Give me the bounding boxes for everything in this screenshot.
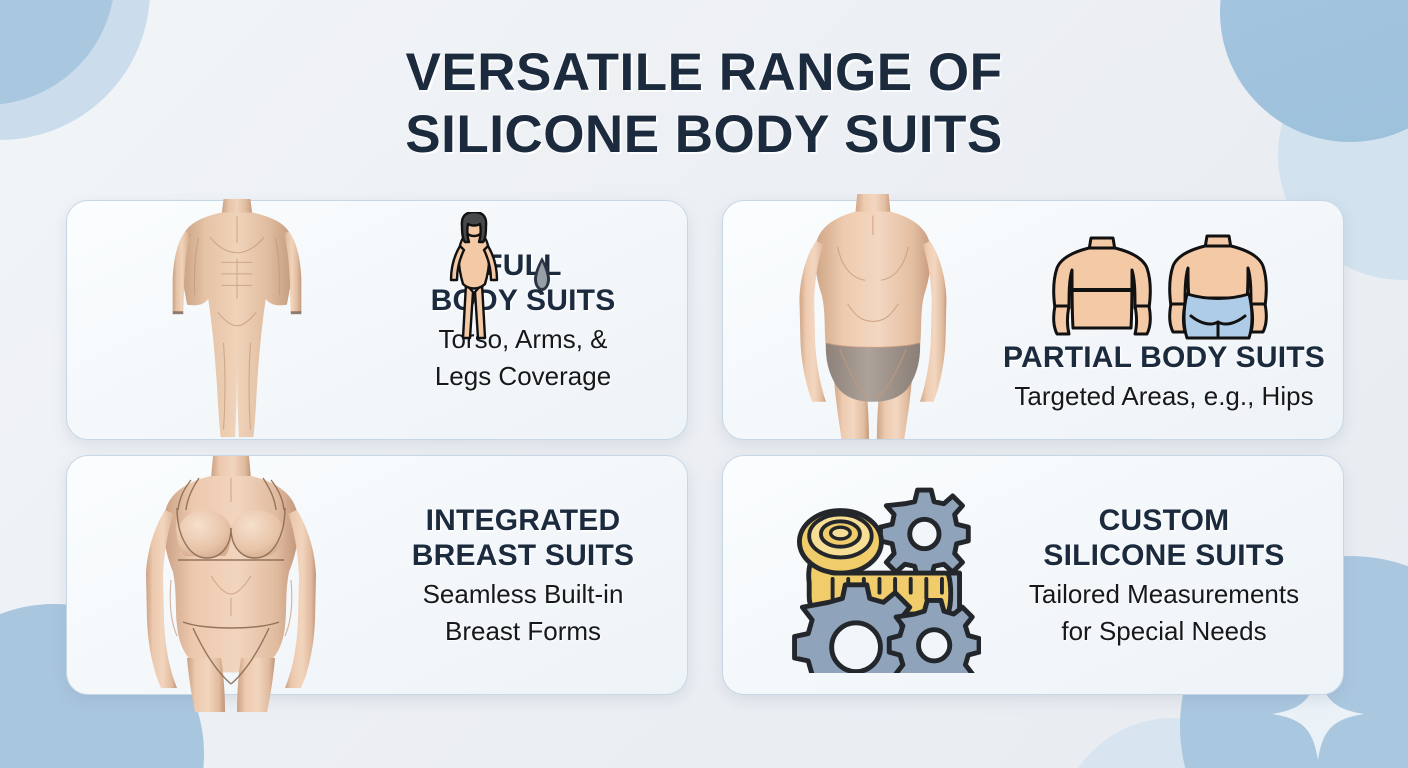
card-partial-body-suits-subtitle: Targeted Areas, e.g., Hips [993,380,1335,412]
bottom-right-blue-circle-ring [1058,718,1288,768]
card-custom-silicone-suits-text: CUSTOM SILICONE SUITS Tailored Measureme… [993,503,1343,647]
page-title: VERSATILE RANGE OF SILICONE BODY SUITS [0,42,1408,166]
card-custom-silicone-suits[interactable]: CUSTOM SILICONE SUITS Tailored Measureme… [722,455,1344,695]
card-partial-body-suits-text: PARTIAL BODY SUITS Targeted Areas, e.g.,… [993,228,1343,412]
full-body-male-figure [67,201,367,439]
tape-measure-and-gears-icon [723,456,993,694]
female-torso-with-briefs [723,201,993,439]
back-torso-icon-pair [993,228,1335,340]
card-full-body-suits-heading-line-2: BODY SUITS [367,283,679,318]
card-integrated-breast-suits-text: INTEGRATED BREAST SUITS Seamless Built-i… [367,503,687,647]
card-partial-body-suits[interactable]: PARTIAL BODY SUITS Targeted Areas, e.g.,… [722,200,1344,440]
page-title-line-2: SILICONE BODY SUITS [0,104,1408,166]
card-full-body-suits-heading-line-1: FULL [367,248,679,283]
card-grid: FULL BODY SUITS Torso, Arms, & Legs Cove… [66,200,1342,693]
female-figure-with-integrated-bra [67,456,367,694]
card-full-body-suits[interactable]: FULL BODY SUITS Torso, Arms, & Legs Cove… [66,200,688,440]
infographic-poster: VERSATILE RANGE OF SILICONE BODY SUITS [0,0,1408,768]
card-full-body-suits-text: FULL BODY SUITS Torso, Arms, & Legs Cove… [367,248,687,392]
card-custom-silicone-suits-heading-line-2: SILICONE SUITS [993,538,1335,573]
card-integrated-breast-suits-heading-line-2: BREAST SUITS [367,538,679,573]
card-integrated-breast-suits-subtitle-line-1: Seamless Built-in [367,578,679,610]
card-custom-silicone-suits-subtitle-line-2: for Special Needs [993,615,1335,647]
card-integrated-breast-suits-heading-line-1: INTEGRATED [367,503,679,538]
card-partial-body-suits-heading: PARTIAL BODY SUITS [993,340,1335,375]
card-full-body-suits-subtitle-line-1: Torso, Arms, & [367,323,679,355]
card-full-body-suits-subtitle-line-2: Legs Coverage [367,360,679,392]
card-integrated-breast-suits-subtitle-line-2: Breast Forms [367,615,679,647]
card-custom-silicone-suits-heading-line-1: CUSTOM [993,503,1335,538]
page-title-line-1: VERSATILE RANGE OF [0,42,1408,104]
card-custom-silicone-suits-subtitle-line-1: Tailored Measurements [993,578,1335,610]
card-integrated-breast-suits[interactable]: INTEGRATED BREAST SUITS Seamless Built-i… [66,455,688,695]
